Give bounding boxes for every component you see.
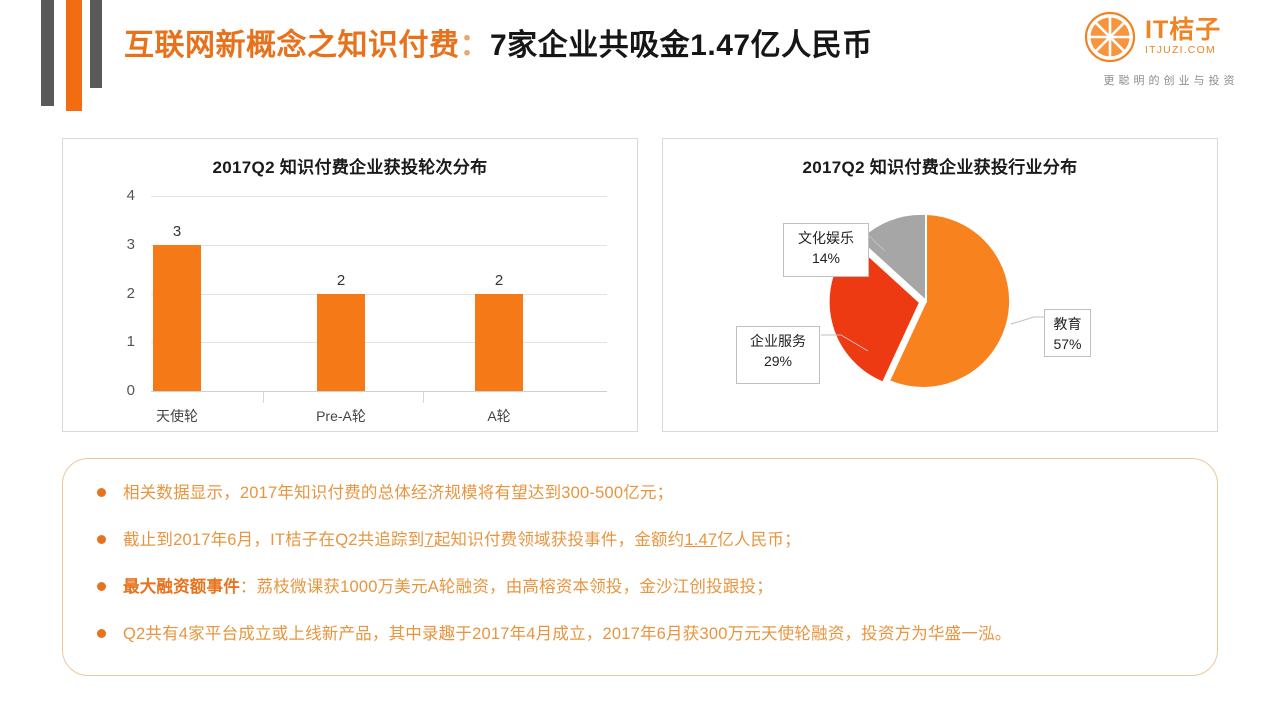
x-tick-2: [423, 391, 424, 403]
y-tick-2: 2: [103, 287, 135, 301]
orange-slice-icon: [1084, 11, 1136, 63]
bar-chart-panel: 2017Q2 知识付费企业获投轮次分布 4 3 2 1 0 3 2 2 天使轮 …: [62, 138, 638, 432]
bar-value-tianshilun: 3: [147, 223, 207, 240]
axis-baseline: [151, 391, 607, 392]
pie-callout-qiyefuwu: 企业服务 29%: [736, 326, 820, 384]
gridline-1: [151, 342, 607, 343]
y-tick-0: 0: [103, 384, 135, 398]
pie-callout-qiyefuwu-name: 企业服务: [744, 331, 812, 351]
summary-bullet-box: 相关数据显示，2017年知识付费的总体经济规模将有望达到300-500亿元； 截…: [62, 458, 1218, 676]
bar-value-alun: 2: [469, 272, 529, 289]
page-title-colon: ：: [460, 29, 491, 62]
bar-value-prealun: 2: [311, 272, 371, 289]
accent-bar-orange: [66, 0, 82, 111]
bullet-dot-icon: [97, 629, 106, 638]
slide-root: 互联网新概念之知识付费：7家企业共吸金1.47亿人民币: [0, 0, 1280, 720]
y-tick-3: 3: [103, 238, 135, 252]
pie-chart-svg: [663, 139, 1219, 433]
bullet-text-1: 相关数据显示，2017年知识付费的总体经济规模将有望达到300-500亿元；: [123, 484, 673, 502]
gridline-4: [151, 196, 607, 197]
pie-callout-jiaoyu: 教育 57%: [1044, 309, 1091, 357]
bullet-item-1: 相关数据显示，2017年知识付费的总体经济规模将有望达到300-500亿元；: [89, 479, 1191, 508]
y-tick-4: 4: [103, 189, 135, 203]
bullet-dot-icon: [97, 582, 106, 591]
accent-bar-gray-left: [41, 0, 54, 106]
logo-url: ITJUZI.COM: [1145, 43, 1221, 57]
y-tick-1: 1: [103, 335, 135, 349]
page-title-primary: 互联网新概念之知识付费: [124, 29, 460, 62]
gridline-3: [151, 245, 607, 246]
pie-callout-wenhuayule: 文化娱乐 14%: [783, 223, 869, 277]
bullet-item-4: Q2共有4家平台成立或上线新产品，其中录趣于2017年4月成立，2017年6月获…: [89, 620, 1191, 649]
bullet-item-2: 截止到2017年6月，IT桔子在Q2共追踪到7起知识付费领域获投事件，金额约1.…: [89, 526, 1191, 555]
bullet-dot-icon: [97, 535, 106, 544]
header-accent-bars: [0, 0, 120, 115]
x-tick-1: [263, 391, 264, 403]
bullet-text-2: 截止到2017年6月，IT桔子在Q2共追踪到7起知识付费领域获投事件，金额约1.…: [123, 531, 801, 549]
bullet-text-4: Q2共有4家平台成立或上线新产品，其中录趣于2017年4月成立，2017年6月获…: [123, 625, 1011, 643]
bullet-dot-icon: [97, 488, 106, 497]
page-title: 互联网新概念之知识付费：7家企业共吸金1.47亿人民币: [124, 26, 873, 66]
pie-callout-wenhuayule-name: 文化娱乐: [791, 228, 861, 248]
gridline-2: [151, 294, 607, 295]
bullet-item-3: 最大融资额事件：荔枝微课获1000万美元A轮融资，由高榕资本领投，金沙江创投跟投…: [89, 573, 1191, 602]
page-title-secondary: 7家企业共吸金1.47亿人民币: [490, 29, 873, 62]
bar-alun: [475, 294, 523, 391]
pie-callout-jiaoyu-pct: 57%: [1052, 334, 1083, 354]
x-label-prealun: Pre-A轮: [286, 406, 396, 426]
logo-name: IT桔子: [1145, 17, 1221, 43]
pie-callout-wenhuayule-pct: 14%: [791, 248, 861, 268]
x-label-alun: A轮: [444, 406, 554, 426]
pie-callout-qiyefuwu-pct: 29%: [744, 351, 812, 371]
bar-prealun: [317, 294, 365, 391]
pie-callout-jiaoyu-name: 教育: [1052, 314, 1083, 334]
brand-logo: IT桔子 ITJUZI.COM 更聪明的创业与投资: [1076, 6, 1266, 102]
accent-bar-gray-right: [90, 0, 102, 88]
x-label-tianshilun: 天使轮: [122, 406, 232, 426]
logo-row: IT桔子 ITJUZI.COM: [1076, 6, 1266, 68]
pie-chart-panel: 2017Q2 知识付费企业获投行业分布 文化娱乐 14% 企业服务 29%: [662, 138, 1218, 432]
bullet-text-3: 最大融资额事件：荔枝微课获1000万美元A轮融资，由高榕资本领投，金沙江创投跟投…: [123, 578, 773, 596]
bar-chart-plot: 4 3 2 1 0 3 2 2 天使轮 Pre-A轮 A轮: [63, 139, 637, 431]
logo-tagline: 更聪明的创业与投资: [1076, 72, 1266, 88]
logo-text-block: IT桔子 ITJUZI.COM: [1145, 17, 1221, 57]
bar-tianshilun: [153, 245, 201, 391]
